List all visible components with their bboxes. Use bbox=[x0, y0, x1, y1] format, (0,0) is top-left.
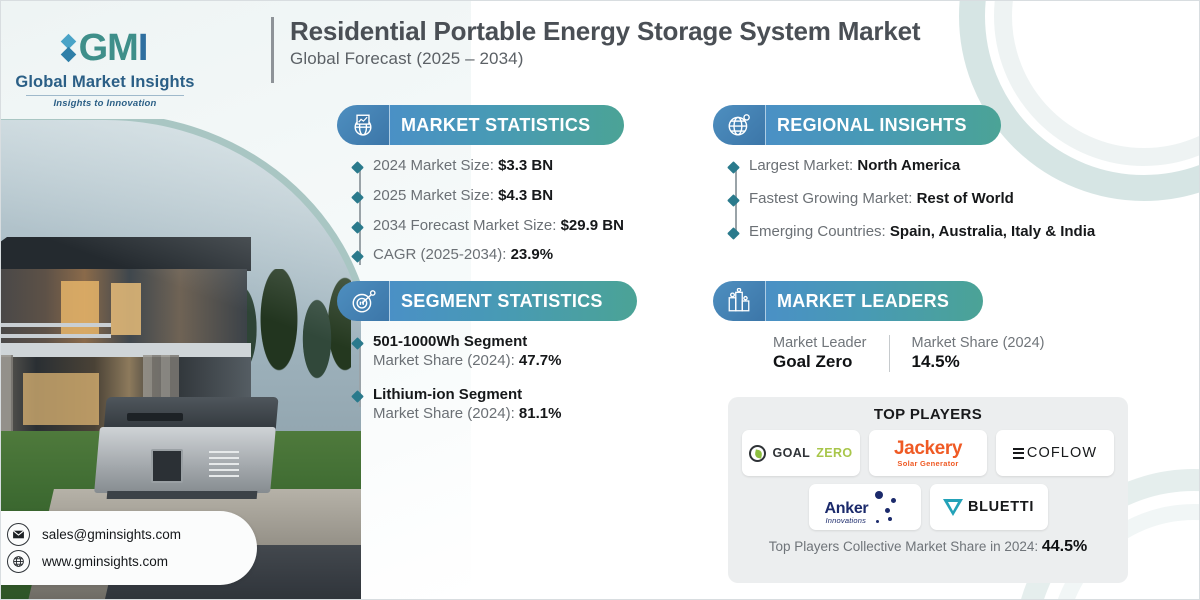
goalzero-leaf-icon bbox=[749, 445, 766, 462]
bullet-icon bbox=[727, 194, 740, 207]
list-item: CAGR (2025-2034): 23.9% bbox=[373, 246, 637, 265]
logo-letter-m: M bbox=[107, 27, 138, 69]
list-item: 501-1000Wh Segment Market Share (2024): … bbox=[373, 333, 637, 369]
market-leader-value: Goal Zero bbox=[773, 352, 867, 372]
contact-email: sales@gminsights.com bbox=[42, 527, 181, 542]
logo-letters: GMI bbox=[79, 29, 148, 67]
market-leader-block: Market Leader Goal Zero bbox=[773, 335, 889, 372]
market-statistics-list: 2024 Market Size: $3.3 BN 2025 Market Si… bbox=[337, 157, 637, 265]
anker-dot bbox=[891, 498, 896, 503]
logo-diamonds-icon bbox=[63, 36, 74, 60]
bullet-icon bbox=[727, 161, 740, 174]
list-item: 2024 Market Size: $3.3 BN bbox=[373, 157, 637, 176]
item-value: $29.9 BN bbox=[561, 217, 624, 234]
anker-dots-icon bbox=[875, 491, 883, 499]
bullet-icon bbox=[351, 191, 364, 204]
player-logo-jackery[interactable]: Jackery Solar Generator bbox=[869, 430, 987, 476]
item-label: CAGR (2025-2034): bbox=[373, 246, 511, 263]
section-segment-statistics: SEGMENT STATISTICS 501-1000Wh Segment Ma… bbox=[337, 281, 637, 433]
page-header: Residential Portable Energy Storage Syst… bbox=[271, 17, 920, 83]
globe-pin-icon bbox=[713, 105, 765, 145]
anker-dot bbox=[876, 520, 879, 523]
bullet-icon bbox=[351, 250, 364, 263]
podium-icon bbox=[713, 281, 765, 321]
page-subtitle: Global Forecast (2025 – 2034) bbox=[290, 49, 920, 69]
list-item: Largest Market: North America bbox=[749, 157, 1183, 176]
contact-email-row[interactable]: sales@gminsights.com bbox=[7, 521, 257, 548]
goalzero-text-b: ZERO bbox=[816, 446, 852, 460]
top-players-row-2: Anker Innovations BLUETTI bbox=[740, 484, 1116, 530]
bluetti-wordmark: BLUETTI bbox=[968, 499, 1034, 515]
top-players-footer-value: 44.5% bbox=[1042, 538, 1087, 555]
bullet-icon bbox=[351, 337, 364, 350]
section-market-leaders: MARKET LEADERS Market Leader Goal Zero M… bbox=[713, 281, 1133, 372]
player-logo-ecoflow[interactable]: COFLOW bbox=[996, 430, 1114, 476]
item-value: 81.1% bbox=[519, 405, 562, 422]
anker-dot bbox=[885, 508, 890, 513]
list-item: 2025 Market Size: $4.3 BN bbox=[373, 187, 637, 206]
envelope-icon bbox=[7, 523, 30, 546]
item-label: Market Share (2024): bbox=[373, 352, 519, 369]
company-logo: GMI Global Market Insights Insights to I… bbox=[15, 25, 195, 117]
list-item: 2034 Forecast Market Size: $29.9 BN bbox=[373, 217, 637, 236]
item-heading: Lithium-ion Segment bbox=[373, 386, 637, 403]
market-statistics-label: MARKET STATISTICS bbox=[387, 105, 624, 145]
market-leaders-label: MARKET LEADERS bbox=[763, 281, 983, 321]
player-logo-anker[interactable]: Anker Innovations bbox=[809, 484, 921, 530]
item-value: $3.3 BN bbox=[498, 157, 553, 174]
item-label: Largest Market: bbox=[749, 157, 857, 174]
contact-website: www.gminsights.com bbox=[42, 554, 168, 569]
logo-letter-g: G bbox=[79, 27, 108, 69]
regional-insights-label: REGIONAL INSIGHTS bbox=[763, 105, 1001, 145]
infographic-canvas: GMI Global Market Insights Insights to I… bbox=[0, 0, 1200, 600]
top-players-footer-label: Top Players Collective Market Share in 2… bbox=[769, 539, 1042, 554]
jackery-subtext: Solar Generator bbox=[894, 460, 962, 468]
regional-insights-list: Largest Market: North America Fastest Gr… bbox=[713, 157, 1183, 241]
list-item: Lithium-ion Segment Market Share (2024):… bbox=[373, 386, 637, 422]
item-value: Rest of World bbox=[917, 190, 1014, 207]
player-logo-bluetti[interactable]: BLUETTI bbox=[930, 484, 1048, 530]
logo-company-name: Global Market Insights bbox=[15, 73, 195, 92]
bullet-icon bbox=[727, 227, 740, 240]
item-value: Spain, Australia, Italy & India bbox=[890, 223, 1095, 240]
market-leaders-pill: MARKET LEADERS bbox=[713, 281, 1133, 321]
segment-statistics-list: 501-1000Wh Segment Market Share (2024): … bbox=[337, 333, 637, 422]
logo-mark: GMI bbox=[15, 25, 195, 71]
market-leader-key: Market Leader bbox=[773, 335, 867, 351]
goalzero-text-a: GOAL bbox=[772, 446, 810, 460]
market-share-value: 14.5% bbox=[912, 352, 1045, 372]
market-share-key: Market Share (2024) bbox=[912, 335, 1045, 351]
logo-tagline: Insights to Innovation bbox=[15, 98, 195, 109]
market-statistics-pill: MARKET STATISTICS bbox=[337, 105, 637, 145]
anker-dot bbox=[888, 517, 892, 521]
list-spine bbox=[359, 167, 361, 265]
segment-statistics-pill: SEGMENT STATISTICS bbox=[337, 281, 637, 321]
bullet-icon bbox=[351, 390, 364, 403]
contact-card: sales@gminsights.com www.gminsights.com bbox=[0, 511, 257, 585]
list-item: Emerging Countries: Spain, Australia, It… bbox=[749, 223, 1183, 242]
player-logo-goalzero[interactable]: GOALZERO bbox=[742, 430, 860, 476]
bluetti-triangle-icon bbox=[943, 499, 963, 516]
target-chart-icon bbox=[337, 281, 389, 321]
item-label: Fastest Growing Market: bbox=[749, 190, 917, 207]
top-players-footer: Top Players Collective Market Share in 2… bbox=[740, 538, 1116, 556]
item-value: $4.3 BN bbox=[498, 187, 553, 204]
page-title: Residential Portable Energy Storage Syst… bbox=[290, 17, 920, 46]
item-value: 47.7% bbox=[519, 352, 562, 369]
item-label: Market Share (2024): bbox=[373, 405, 519, 422]
item-value: North America bbox=[857, 157, 960, 174]
logo-letter-i: I bbox=[138, 27, 148, 69]
bullet-icon bbox=[351, 161, 364, 174]
logo-divider bbox=[26, 95, 184, 96]
globe-chart-icon bbox=[337, 105, 389, 145]
item-heading: 501-1000Wh Segment bbox=[373, 333, 637, 350]
market-leaders-detail: Market Leader Goal Zero Market Share (20… bbox=[773, 335, 1133, 372]
bullet-icon bbox=[351, 221, 364, 234]
jackery-wordmark: Jackery bbox=[894, 438, 962, 459]
list-item: Fastest Growing Market: Rest of World bbox=[749, 190, 1183, 209]
contact-website-row[interactable]: www.gminsights.com bbox=[7, 548, 257, 575]
ecoflow-wordmark: COFLOW bbox=[1027, 445, 1097, 461]
globe-icon bbox=[7, 550, 30, 573]
anker-subtext: Innovations bbox=[826, 516, 867, 525]
market-share-block: Market Share (2024) 14.5% bbox=[889, 335, 1067, 372]
ecoflow-bars-icon bbox=[1013, 448, 1024, 459]
item-label: 2034 Forecast Market Size: bbox=[373, 217, 561, 234]
top-players-row-1: GOALZERO Jackery Solar Generator COFLOW bbox=[740, 430, 1116, 476]
item-label: 2025 Market Size: bbox=[373, 187, 498, 204]
section-regional-insights: REGIONAL INSIGHTS Largest Market: North … bbox=[713, 105, 1183, 252]
item-value: 23.9% bbox=[511, 246, 554, 263]
item-label: 2024 Market Size: bbox=[373, 157, 498, 174]
regional-insights-pill: REGIONAL INSIGHTS bbox=[713, 105, 1183, 145]
segment-statistics-label: SEGMENT STATISTICS bbox=[387, 281, 637, 321]
top-players-card: TOP PLAYERS GOALZERO Jackery Solar Gener… bbox=[728, 397, 1128, 583]
item-label: Emerging Countries: bbox=[749, 223, 890, 240]
top-players-title: TOP PLAYERS bbox=[740, 406, 1116, 423]
section-market-statistics: MARKET STATISTICS 2024 Market Size: $3.3… bbox=[337, 105, 637, 276]
